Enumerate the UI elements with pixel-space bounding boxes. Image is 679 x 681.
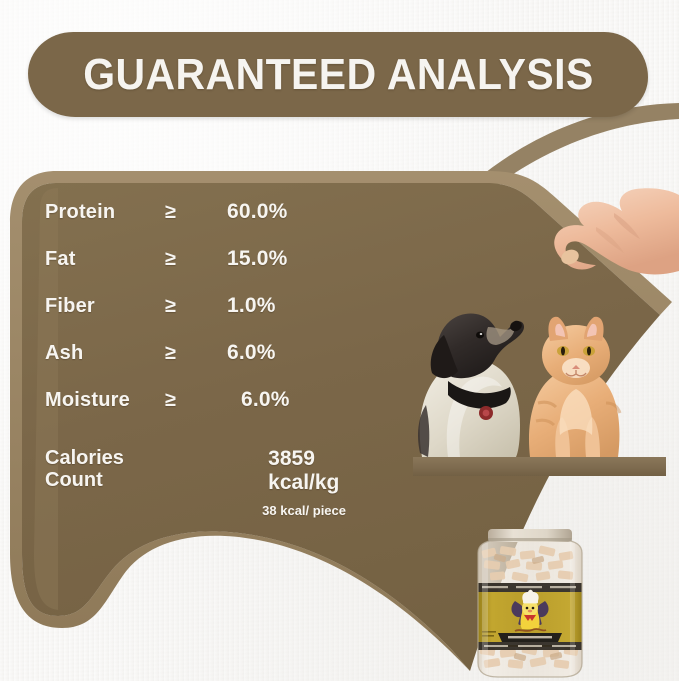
dog-eye-icon: [476, 332, 484, 339]
calories-label-line2: Count: [45, 469, 124, 491]
nutrient-value: 15.0%: [227, 247, 288, 271]
shelf-bar: [413, 457, 666, 476]
table-row: Protein ≥ 60.0%: [45, 200, 345, 247]
page-title: GUARANTEED ANALYSIS: [83, 50, 594, 100]
calories-value-unit: kcal/kg: [268, 471, 346, 495]
nutrient-operator: ≥: [165, 295, 227, 318]
nutrient-value: 6.0%: [227, 341, 276, 365]
nutrient-label: Fat: [45, 248, 165, 271]
calories-label: Calories Count: [45, 447, 124, 518]
dog-sitting-icon: [418, 314, 524, 458]
treat-jar: [466, 527, 594, 681]
hand-holding-treat-icon: [554, 188, 679, 274]
calories-value-number: 3859: [268, 447, 346, 471]
nutrient-value: 60.0%: [227, 200, 288, 224]
nutrient-operator: ≥: [165, 389, 227, 412]
nutrient-label: Protein: [45, 201, 165, 224]
table-row: Fat ≥ 15.0%: [45, 247, 345, 294]
page-title-banner: GUARANTEED ANALYSIS: [28, 32, 648, 117]
calories-per-piece: 38 kcal/ piece: [262, 503, 346, 518]
table-row: Fiber ≥ 1.0%: [45, 294, 345, 341]
calories-label-line1: Calories: [45, 447, 124, 469]
guaranteed-analysis-table: Protein ≥ 60.0% Fat ≥ 15.0% Fiber ≥ 1.0%…: [45, 200, 345, 435]
pets-photo: [400, 185, 679, 485]
nutrient-operator: ≥: [165, 201, 227, 224]
nutrient-operator: ≥: [165, 248, 227, 271]
calories-count-block: Calories Count 3859 kcal/kg 38 kcal/ pie…: [45, 447, 350, 518]
cat-sitting-icon: [529, 317, 620, 457]
calories-value: 3859 kcal/kg: [268, 447, 346, 494]
jar-lid-icon: [488, 529, 572, 542]
nutrient-label: Fiber: [45, 295, 165, 318]
nutrient-value: 6.0%: [227, 388, 290, 412]
nutrient-label: Moisture: [45, 389, 165, 412]
calories-value-group: 3859 kcal/kg 38 kcal/ piece: [268, 447, 350, 518]
nutrient-value: 1.0%: [227, 294, 276, 318]
table-row: Moisture ≥ 6.0%: [45, 388, 345, 435]
nutrient-operator: ≥: [165, 342, 227, 365]
table-row: Ash ≥ 6.0%: [45, 341, 345, 388]
nutrient-label: Ash: [45, 342, 165, 365]
